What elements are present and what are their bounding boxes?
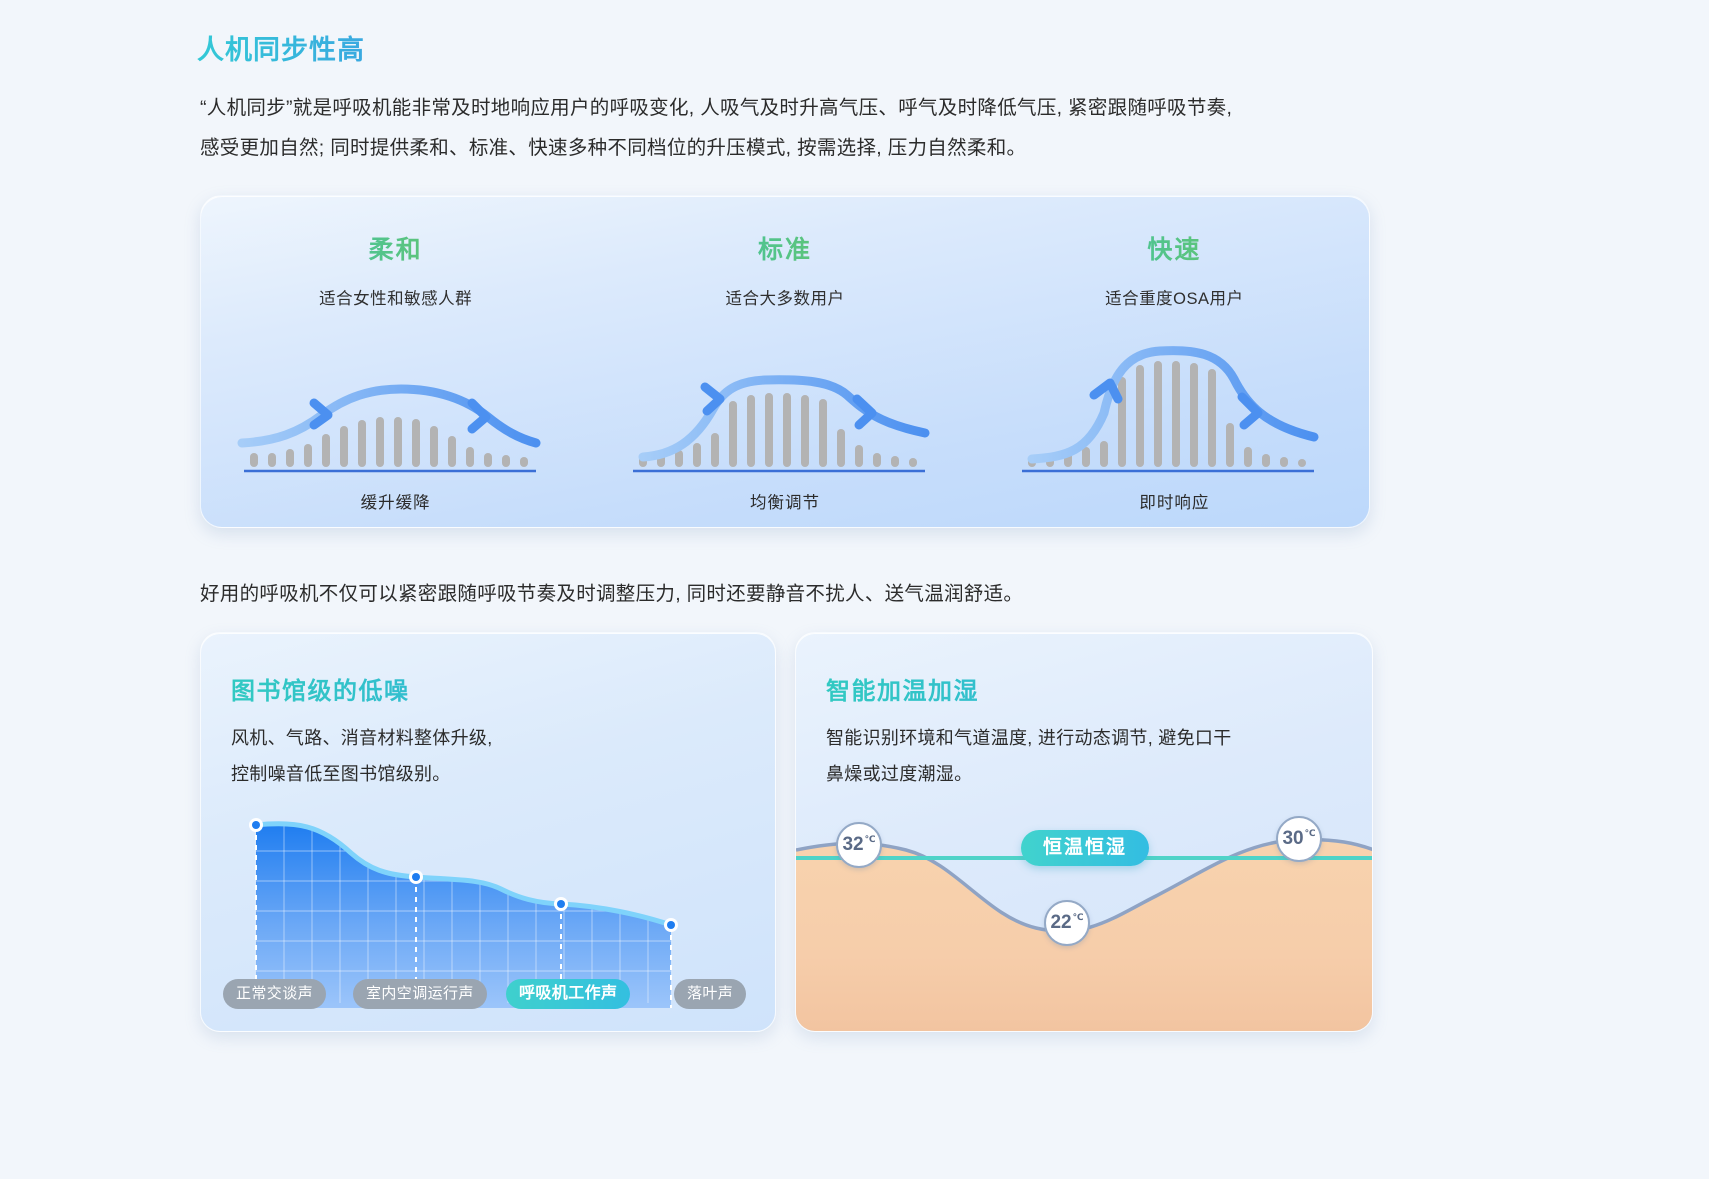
humidity-card: 智能加温加湿 智能识别环境和气道温度, 进行动态调节, 避免口干 鼻燥或过度潮湿… — [795, 632, 1373, 1032]
humidity-card-title: 智能加温加湿 — [826, 671, 1372, 706]
section-paragraph-line1: “人机同步”就是呼吸机能非常及时地响应用户的呼吸变化, 人吸气及时升高气压、呼气… — [200, 97, 1232, 119]
mode-caption-standard: 均衡调节 — [590, 489, 979, 513]
noise-label-aircon[interactable]: 室内空调运行声 — [353, 979, 487, 1009]
section-paragraph-line2: 感受更加自然; 同时提供柔和、标准、快速多种不同档位的升压模式, 按需选择, 压… — [200, 128, 1310, 168]
pressure-modes-card: 柔和 适合女性和敏感人群 — [200, 195, 1370, 528]
humidity-chart: 32℃ 22℃ 30℃ 恒温恒湿 — [796, 798, 1373, 1032]
noise-card: 图书馆级的低噪 风机、气路、消音材料整体升级, 控制噪音低至图书馆级别。 — [200, 632, 776, 1032]
mode-graph-soft — [236, 337, 556, 477]
section-paragraph: “人机同步”就是呼吸机能非常及时地响应用户的呼吸变化, 人吸气及时升高气压、呼气… — [200, 88, 1310, 168]
soft-breath-chart-svg — [236, 337, 556, 477]
mode-title-standard: 标准 — [590, 230, 979, 266]
noise-label-row: 正常交谈声 室内空调运行声 呼吸机工作声 落叶声 — [201, 979, 776, 1009]
mode-column-fast: 快速 适合重度OSA用户 — [980, 196, 1369, 527]
standard-breath-chart-svg — [625, 337, 945, 477]
temperature-badge-30: 30℃ — [1276, 816, 1322, 862]
mode-graph-fast — [1014, 337, 1334, 477]
noise-desc-line2: 控制噪音低至图书馆级别。 — [231, 756, 775, 792]
humidity-card-description: 智能识别环境和气道温度, 进行动态调节, 避免口干 鼻燥或过度潮湿。 — [826, 720, 1372, 792]
noise-label-conversation[interactable]: 正常交谈声 — [223, 979, 326, 1009]
mode-title-soft: 柔和 — [201, 230, 590, 266]
temperature-badge-32: 32℃ — [836, 822, 882, 868]
mode-caption-soft: 缓升缓降 — [201, 489, 590, 513]
mode-subtitle-standard: 适合大多数用户 — [590, 285, 979, 309]
mode-subtitle-soft: 适合女性和敏感人群 — [201, 285, 590, 309]
fast-breath-chart-svg — [1014, 337, 1334, 477]
mode-column-soft: 柔和 适合女性和敏感人群 — [201, 196, 590, 527]
page-root: 人机同步性高 “人机同步”就是呼吸机能非常及时地响应用户的呼吸变化, 人吸气及时… — [0, 0, 1709, 1179]
noise-card-title: 图书馆级的低噪 — [231, 671, 775, 706]
mode-graph-standard — [625, 337, 945, 477]
noise-label-leaf[interactable]: 落叶声 — [674, 979, 746, 1009]
noise-card-description: 风机、气路、消音材料整体升级, 控制噪音低至图书馆级别。 — [231, 720, 775, 792]
noise-desc-line1: 风机、气路、消音材料整体升级, — [231, 720, 775, 756]
temperature-badge-22-value: 22 — [1050, 912, 1071, 934]
pressure-modes-row: 柔和 适合女性和敏感人群 — [201, 196, 1369, 527]
mid-paragraph: 好用的呼吸机不仅可以紧密跟随呼吸节奏及时调整压力, 同时还要静音不扰人、送气温润… — [200, 578, 1400, 610]
mode-column-standard: 标准 适合大多数用户 — [590, 196, 979, 527]
temperature-badge-32-unit: ℃ — [865, 834, 876, 845]
temperature-badge-22: 22℃ — [1044, 900, 1090, 946]
page-title: 人机同步性高 — [197, 28, 365, 67]
mode-subtitle-fast: 适合重度OSA用户 — [980, 285, 1369, 309]
temperature-badge-30-unit: ℃ — [1305, 828, 1316, 839]
temperature-badge-30-value: 30 — [1282, 828, 1303, 850]
mode-caption-fast: 即时响应 — [980, 489, 1369, 513]
temperature-badge-22-unit: ℃ — [1073, 912, 1084, 923]
temperature-badge-32-value: 32 — [842, 834, 863, 856]
humidity-desc-line2: 鼻燥或过度潮湿。 — [826, 756, 1372, 792]
humidity-desc-line1: 智能识别环境和气道温度, 进行动态调节, 避免口干 — [826, 720, 1372, 756]
mode-title-fast: 快速 — [980, 230, 1369, 266]
noise-chart: 正常交谈声 室内空调运行声 呼吸机工作声 落叶声 — [201, 803, 776, 1032]
noise-label-device[interactable]: 呼吸机工作声 — [506, 979, 630, 1009]
humidity-constant-pill: 恒温恒湿 — [1021, 830, 1149, 866]
